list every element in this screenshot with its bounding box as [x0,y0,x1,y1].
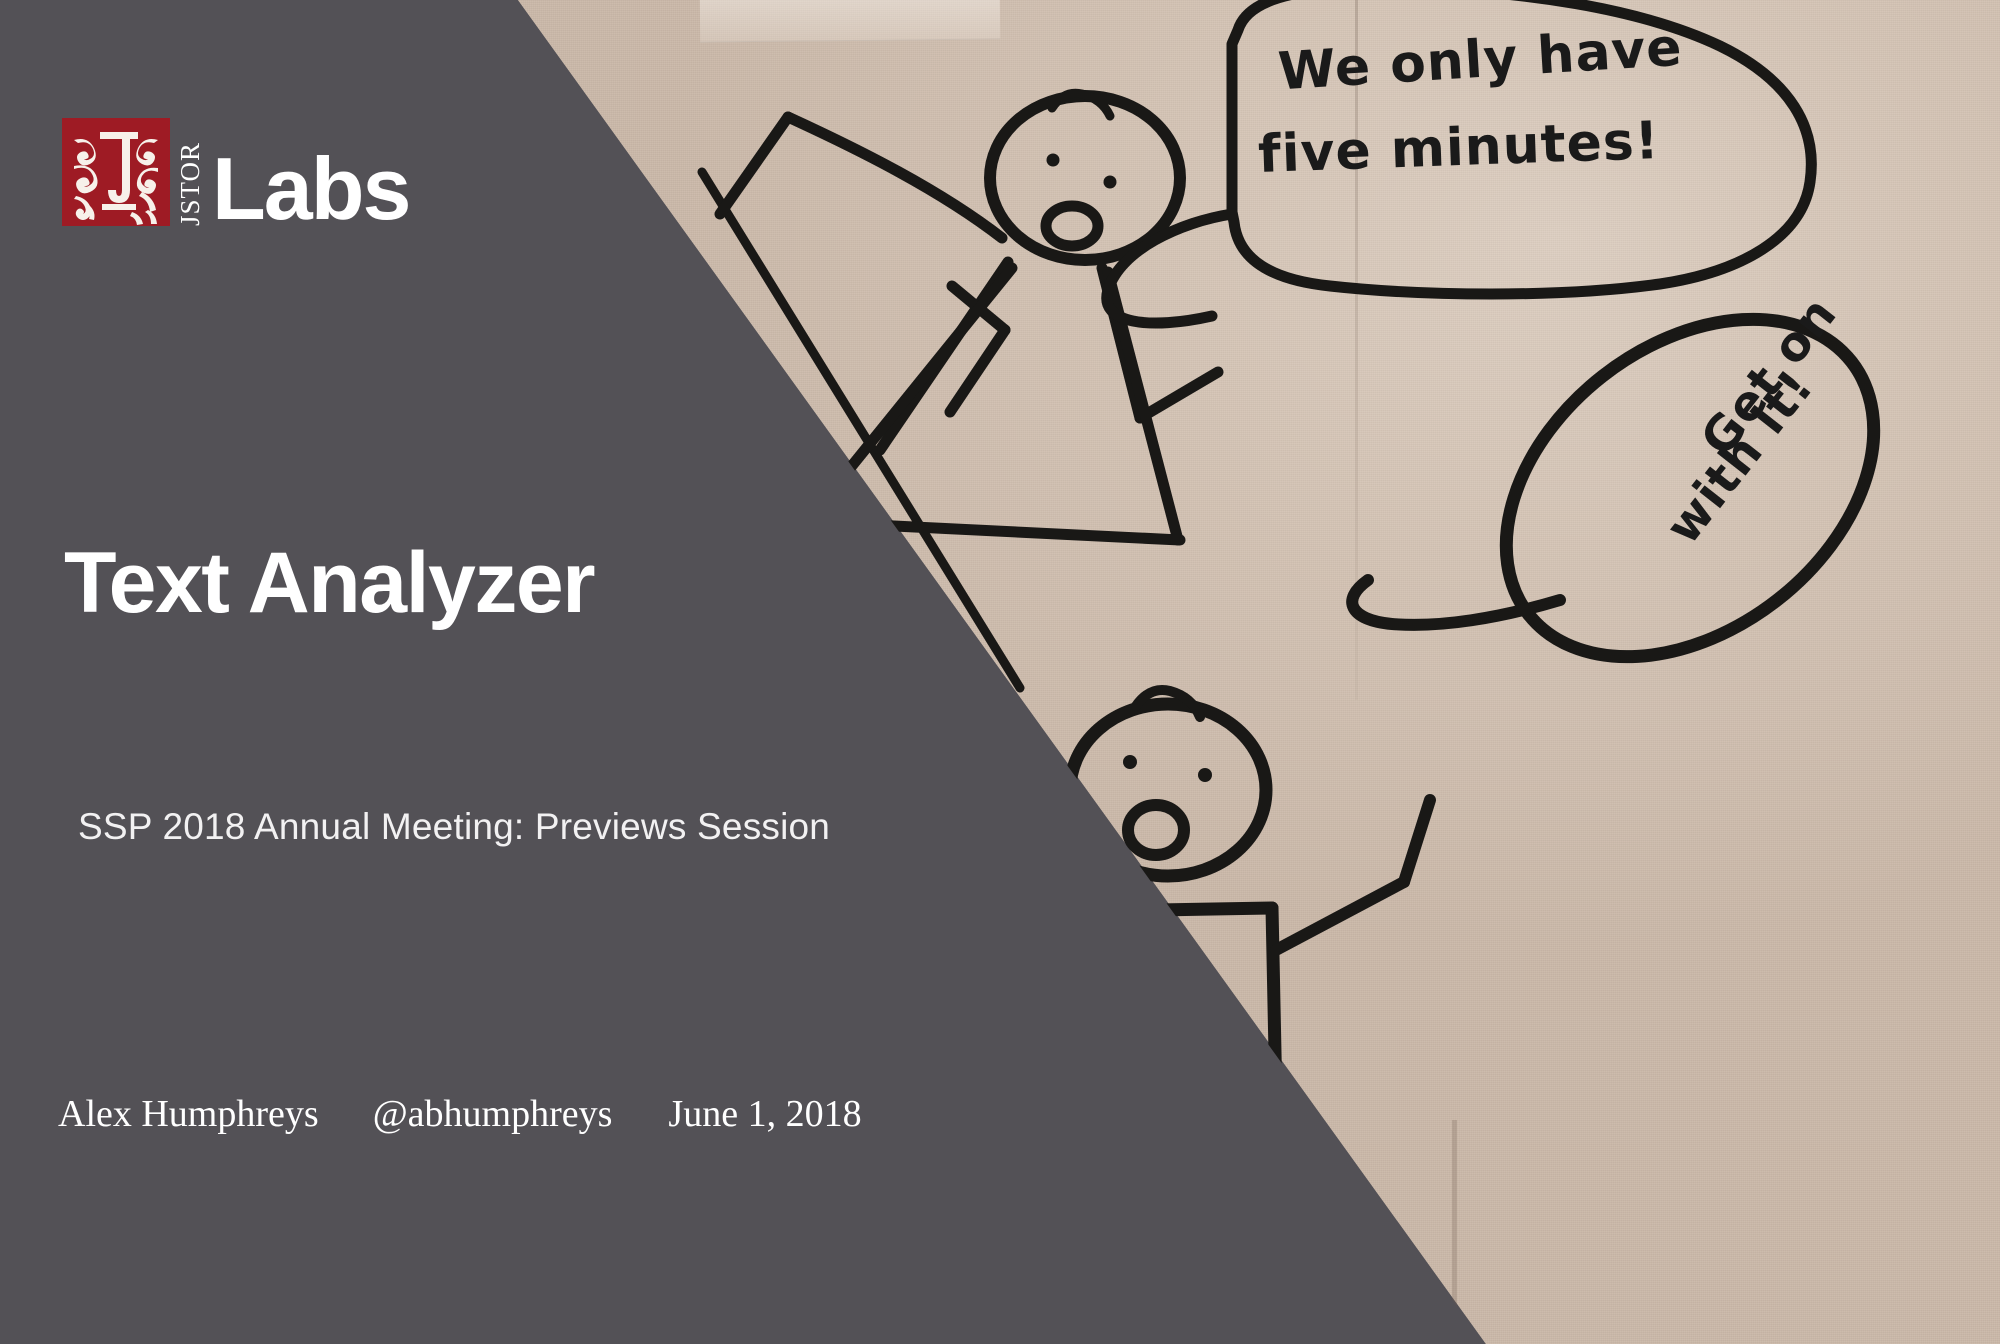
slide-title: Text Analyzer [64,540,594,626]
jstor-labs-logo[interactable]: JSTOR Labs [62,118,409,226]
labs-wordmark: Labs [212,154,409,226]
byline: Alex Humphreys @abhumphreys June 1, 2018 [58,1092,862,1136]
jstor-wordmark: JSTOR [177,118,204,226]
paper-seam-upper [1355,0,1358,700]
presentation-date: June 1, 2018 [668,1092,861,1136]
twitter-handle[interactable]: @abhumphreys [373,1092,613,1136]
jstor-illuminated-j-icon [62,118,170,226]
author-name: Alex Humphreys [58,1092,319,1136]
tape-strip [700,0,1000,43]
presentation-slide: We only have five minutes! Get on with i… [0,0,2000,1344]
slide-subtitle: SSP 2018 Annual Meeting: Previews Sessio… [78,806,830,848]
